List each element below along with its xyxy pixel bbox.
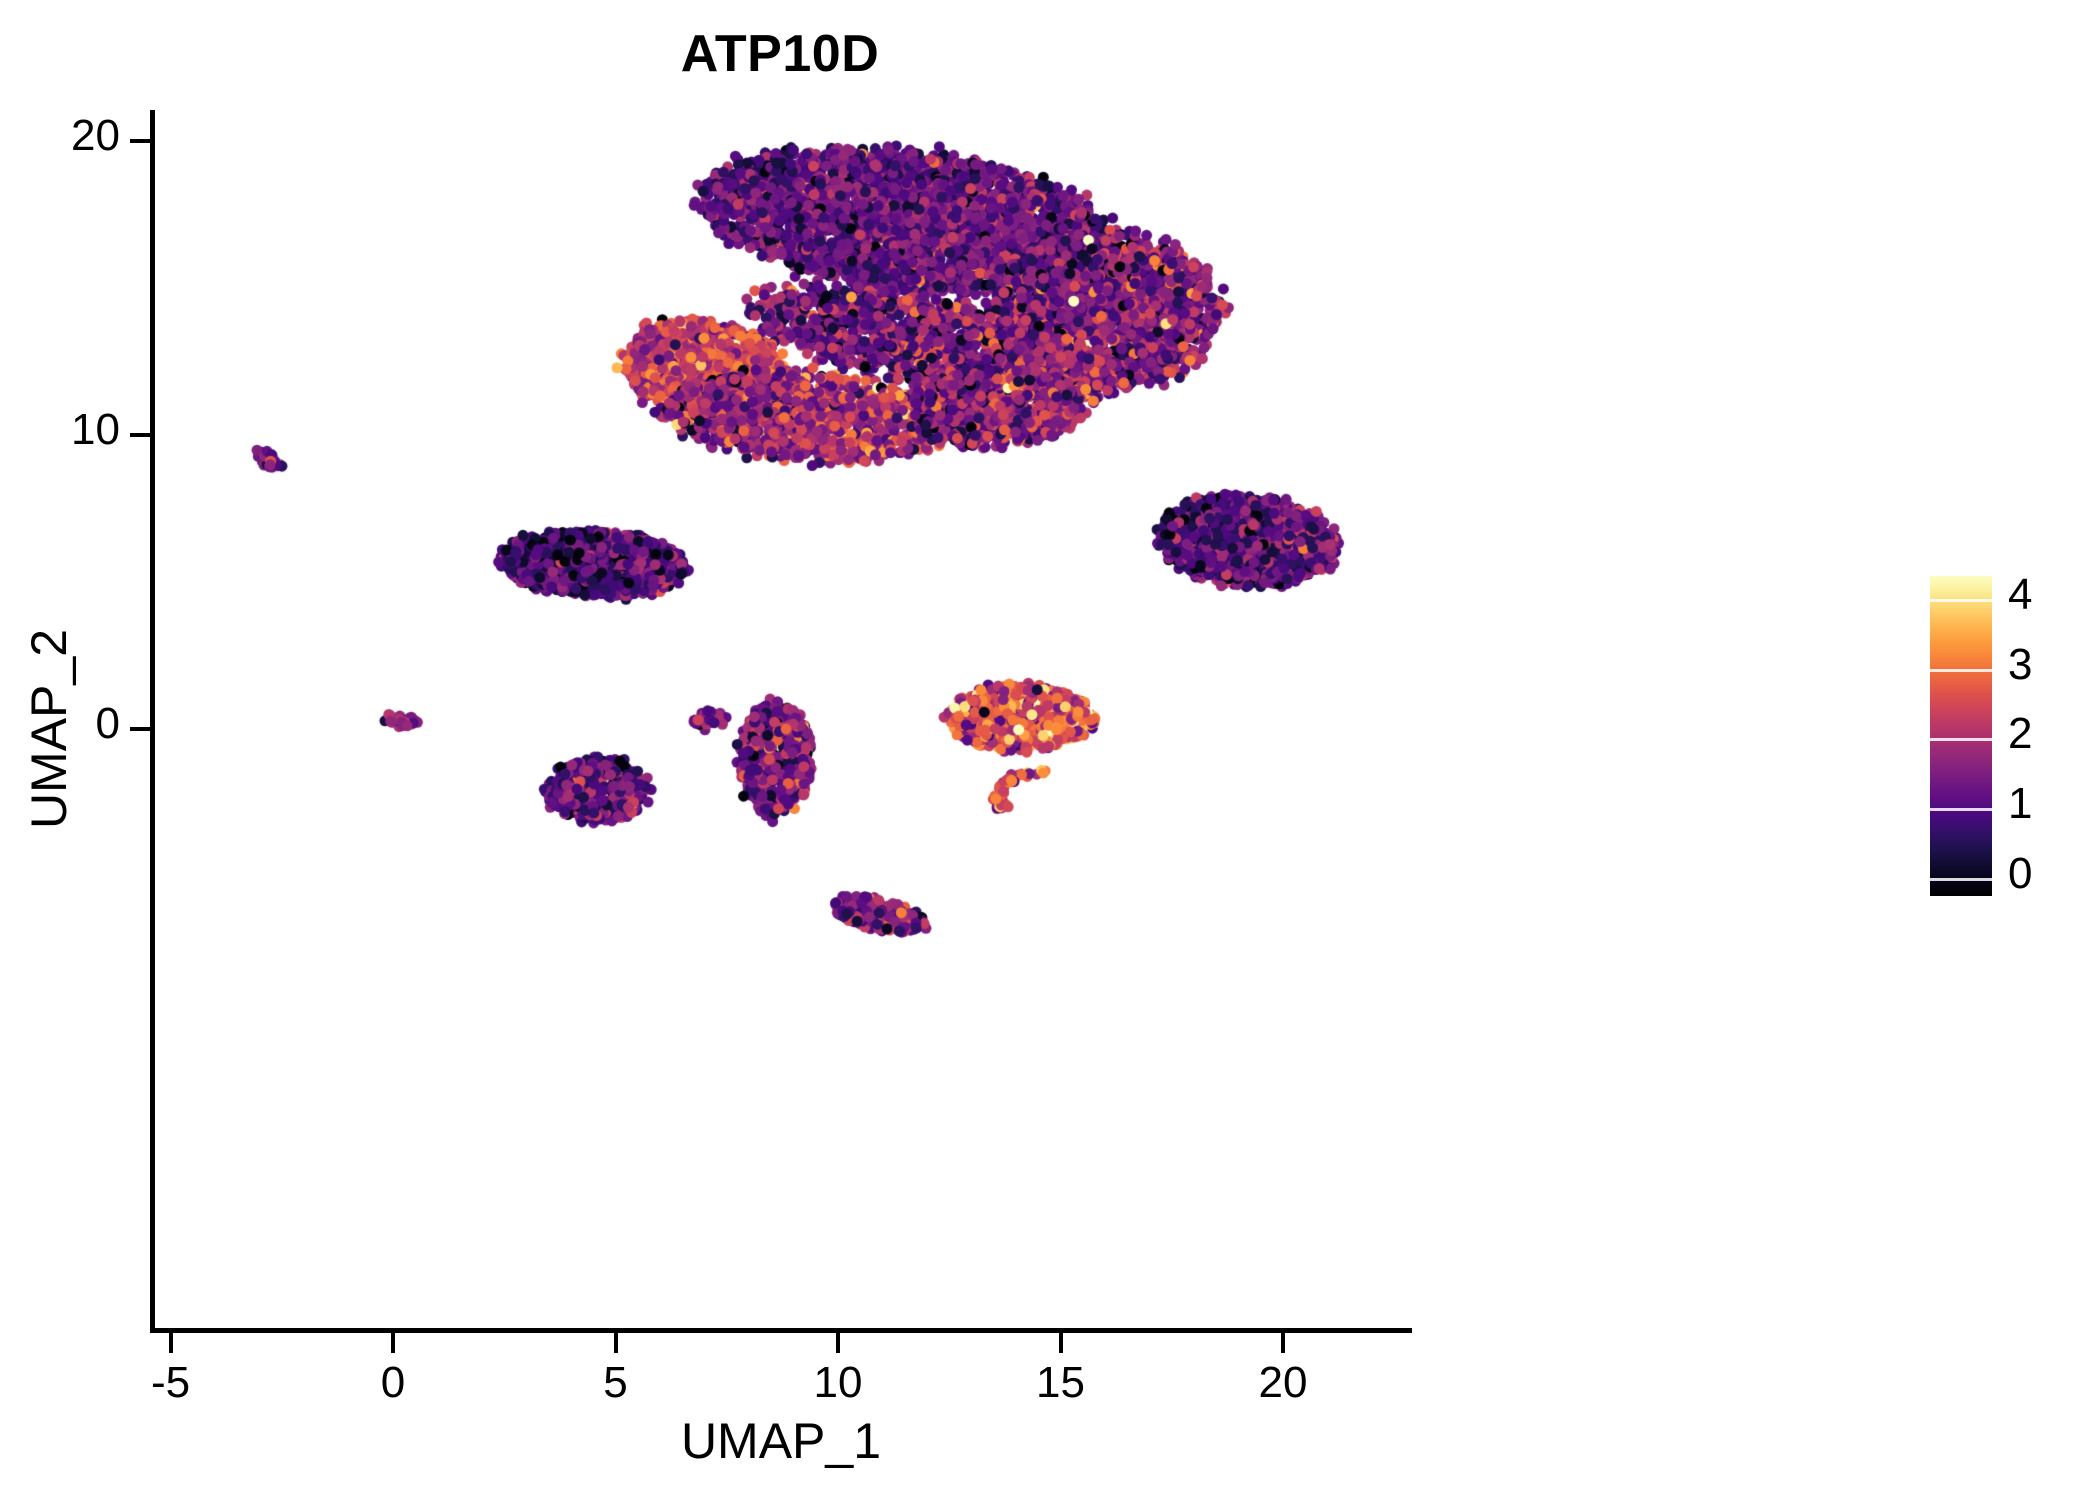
x-tick-label-3: 10 [768,1358,908,1408]
colorbar-tick-4 [1930,878,1992,881]
umap-feature-plot: ATP10D -505101520 20100 UMAP_1 UMAP_2 43… [0,0,2100,1500]
colorbar-tick-0 [1930,599,1992,602]
x-tick-1 [391,1333,395,1353]
y-axis-line [150,110,155,1332]
plot-panel [152,110,1410,1325]
x-tick-label-1: 0 [323,1358,463,1408]
colorbar-gradient [1930,576,1992,896]
y-tick-label-0: 20 [0,111,120,161]
colorbar-label-3: 1 [2008,779,2078,829]
x-tick-4 [1059,1333,1063,1353]
y-tick-0 [130,139,150,143]
x-axis-label: UMAP_1 [150,1412,1412,1470]
colorbar-label-2: 2 [2008,709,2078,759]
y-tick-2 [130,727,150,731]
colorbar-label-0: 4 [2008,570,2078,620]
x-tick-5 [1281,1333,1285,1353]
x-tick-label-2: 5 [546,1358,686,1408]
y-axis-label: UMAP_2 [20,419,78,1039]
colorbar-label-1: 3 [2008,640,2078,690]
colorbar-legend: 43210 [1930,576,2080,906]
page-title: ATP10D [0,24,1560,84]
x-tick-3 [836,1333,840,1353]
y-tick-1 [130,433,150,437]
x-tick-label-5: 20 [1213,1358,1353,1408]
x-axis-line [150,1328,1412,1333]
colorbar-tick-3 [1930,808,1992,811]
colorbar-tick-2 [1930,738,1992,741]
x-tick-label-4: 15 [991,1358,1131,1408]
colorbar-tick-1 [1930,669,1992,672]
colorbar-label-4: 0 [2008,849,2078,899]
x-tick-label-0: -5 [101,1358,241,1408]
x-tick-0 [169,1333,173,1353]
x-tick-2 [614,1333,618,1353]
scatter-canvas [152,110,1410,1325]
